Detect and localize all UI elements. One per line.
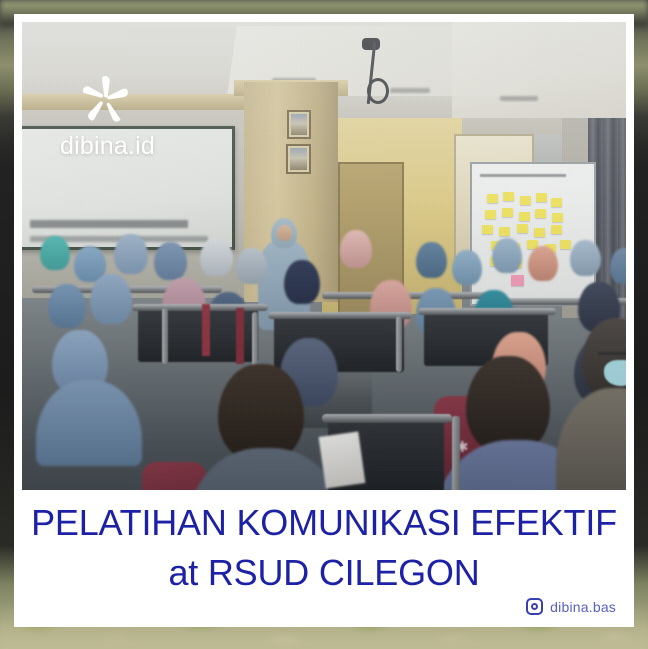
sticky-note bbox=[551, 198, 562, 207]
social-media-post: ✱ bbox=[0, 0, 648, 649]
brand-watermark: dibina.id bbox=[60, 74, 210, 174]
ceiling-vent bbox=[500, 96, 538, 101]
framed-portrait bbox=[287, 110, 311, 139]
chair-back-rail bbox=[268, 312, 412, 319]
whiteboard-heading bbox=[480, 174, 566, 177]
chair-post bbox=[396, 316, 402, 372]
caption-title-line-1: PELATIHAN KOMUNIKASI EFEKTIF bbox=[14, 502, 634, 544]
instagram-handle-text: dibina.bas bbox=[550, 599, 616, 615]
sticky-note bbox=[487, 194, 498, 203]
attendee-shoulders bbox=[556, 388, 626, 498]
attendee-head bbox=[492, 238, 522, 273]
brand-name: dibina.id bbox=[60, 132, 210, 161]
attendee-head bbox=[284, 260, 320, 304]
attendee-head bbox=[48, 284, 86, 328]
eyeglasses-icon bbox=[598, 352, 626, 355]
ceiling-vent bbox=[390, 88, 430, 93]
chair-back-rail bbox=[418, 308, 556, 315]
attendee-head bbox=[452, 250, 482, 285]
chair-back-rail bbox=[132, 304, 268, 311]
chair-post bbox=[162, 308, 168, 364]
asterisk-flower-logo-icon bbox=[78, 74, 132, 128]
ceiling-panel-secondary bbox=[452, 22, 626, 118]
caption-title-line-2: at RSUD CILEGON bbox=[14, 552, 634, 594]
instagram-handle[interactable]: dibina.bas bbox=[526, 598, 616, 615]
chair-back-rail bbox=[322, 292, 502, 299]
sticky-note bbox=[536, 193, 547, 202]
chair-strap bbox=[202, 304, 210, 356]
attendee-head bbox=[610, 248, 626, 284]
sticky-note bbox=[503, 192, 514, 201]
attendee-head bbox=[200, 238, 233, 276]
framed-portrait bbox=[286, 144, 311, 174]
attendee-head bbox=[40, 236, 70, 270]
attendee-shoulders bbox=[36, 380, 142, 466]
attendee-head bbox=[340, 230, 372, 268]
instagram-icon bbox=[526, 598, 543, 615]
attendee-head bbox=[466, 356, 550, 452]
handout-paper bbox=[319, 431, 366, 488]
attendee-head bbox=[236, 248, 267, 284]
attendee-head bbox=[90, 274, 132, 324]
chair-back-rail bbox=[322, 414, 452, 423]
attendee-head bbox=[154, 242, 187, 280]
chair-strap bbox=[236, 308, 244, 364]
attendee-head bbox=[528, 246, 558, 281]
attendee-head bbox=[218, 364, 304, 460]
ceiling-cable-loop bbox=[367, 78, 389, 104]
attendee-head bbox=[114, 234, 148, 274]
caption-band: PELATIHAN KOMUNIKASI EFEKTIF at RSUD CIL… bbox=[14, 490, 634, 627]
chair-post bbox=[252, 312, 258, 370]
sticky-note bbox=[520, 196, 531, 205]
attendee-head bbox=[570, 240, 601, 276]
ceiling-cable-mount bbox=[362, 38, 380, 50]
attendee-head bbox=[416, 242, 447, 278]
